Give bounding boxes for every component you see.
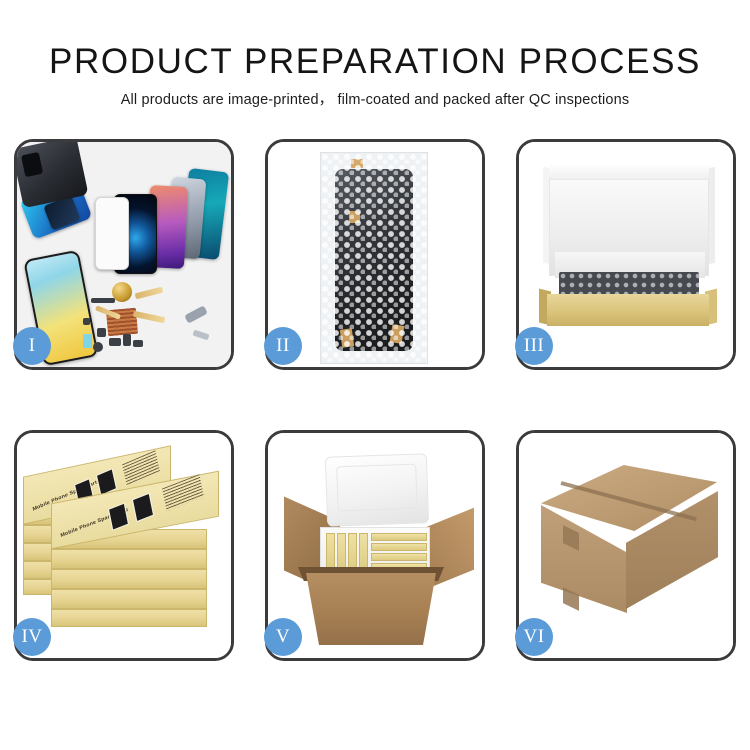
small-part — [93, 342, 103, 352]
process-step-panel-6[interactable]: VI — [516, 430, 736, 661]
yellow-box-in-carton — [371, 553, 427, 561]
small-part — [83, 334, 92, 348]
box-label-textlines — [122, 450, 160, 485]
process-step-panel-1[interactable]: I — [14, 139, 234, 370]
process-step-panel-5[interactable]: V — [265, 430, 485, 661]
gold-component — [112, 282, 132, 302]
step-4-image: Mobile Phone Spare Parts Mobile Phone Sp… — [17, 433, 231, 658]
stacked-box — [51, 569, 207, 589]
step-badge-6: VI — [515, 618, 553, 656]
step-2-image — [268, 142, 482, 367]
box-label-textlines — [162, 474, 204, 511]
yellow-box-in-carton — [371, 543, 427, 551]
bubble-texture-overlay — [321, 153, 427, 363]
box-lid-top-edge — [549, 164, 709, 180]
step-3-image — [519, 142, 733, 367]
process-step-panel-2[interactable]: II — [265, 139, 485, 370]
small-part — [123, 334, 131, 346]
box-label-thumbnail — [132, 493, 154, 523]
step-badge-5: V — [264, 618, 302, 656]
step-badge-2: II — [264, 327, 302, 365]
step-badge-4: IV — [13, 618, 51, 656]
small-part — [91, 298, 115, 303]
bubble-wrap-bag — [320, 152, 428, 364]
small-part — [133, 340, 143, 347]
header: PRODUCT PREPARATION PROCESS All products… — [0, 42, 750, 109]
screen-protector-glass — [95, 197, 129, 270]
product-preparation-process-page: PRODUCT PREPARATION PROCESS All products… — [0, 0, 750, 750]
page-subtitle: All products are image-printed， film-coa… — [0, 91, 750, 109]
step-badge-1: I — [13, 327, 51, 365]
stacked-box — [51, 589, 207, 609]
stacked-box — [51, 609, 207, 627]
carton-front — [306, 573, 436, 645]
step-1-image — [17, 142, 231, 367]
process-step-panel-4[interactable]: Mobile Phone Spare Parts Mobile Phone Sp… — [14, 430, 234, 661]
kraft-box-front — [547, 294, 709, 326]
small-part — [109, 338, 121, 346]
page-title: PRODUCT PREPARATION PROCESS — [0, 42, 750, 82]
small-part — [83, 318, 90, 325]
yellow-box-in-carton — [371, 533, 427, 541]
step-badge-3: III — [515, 327, 553, 365]
process-step-panel-3[interactable]: III — [516, 139, 736, 370]
step-5-image — [268, 433, 482, 658]
stacked-box — [51, 549, 207, 569]
small-part — [97, 328, 106, 337]
process-step-grid: I II — [14, 139, 736, 661]
step-6-image — [519, 433, 733, 658]
styrofoam-lid — [325, 453, 429, 527]
